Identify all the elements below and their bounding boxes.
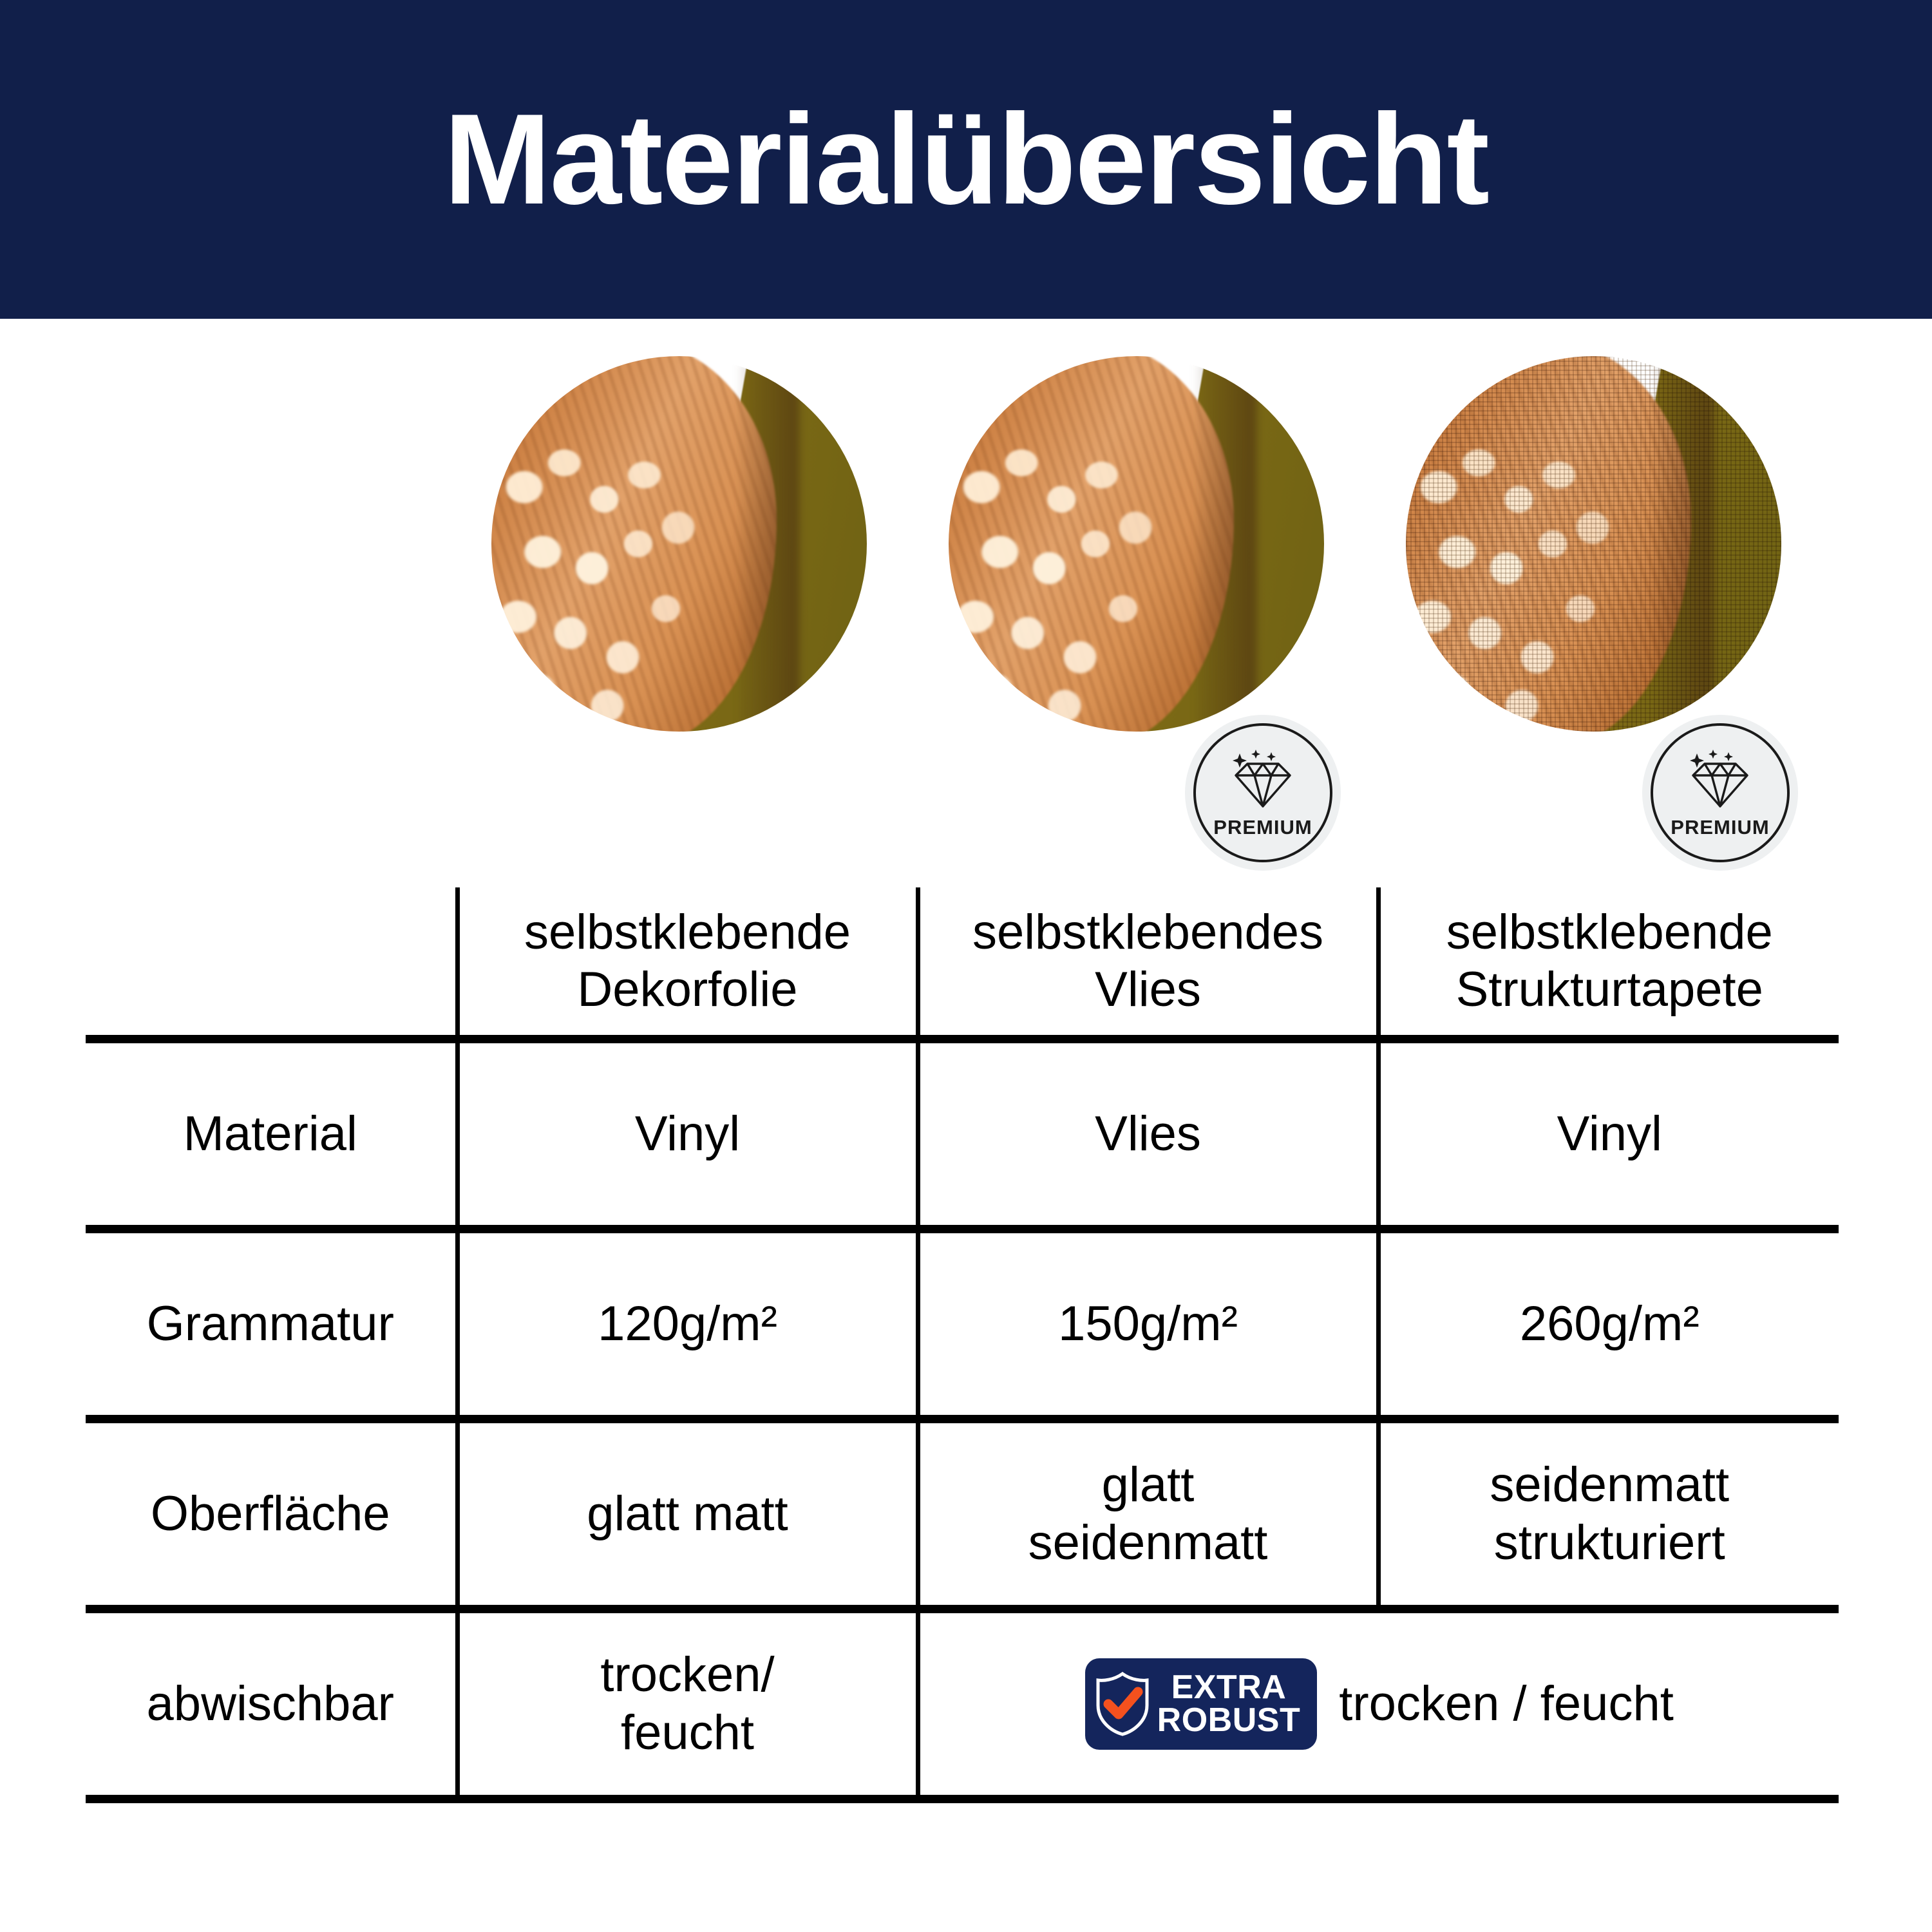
extra-robust-badge: EXTRA ROBUST xyxy=(1085,1658,1318,1750)
header-line-2: Dekorfolie xyxy=(468,961,908,1019)
material-swatch-strukturtapete[interactable] xyxy=(1406,356,1781,732)
cell-grammatur-vlies: 150g/m² xyxy=(918,1229,1378,1419)
feather-edge-shadow xyxy=(739,364,799,724)
row-label-material: Material xyxy=(86,1039,457,1229)
header-line-1: selbstklebendes xyxy=(928,904,1368,961)
material-spec-table: selbstklebende Dekorfolie selbstklebende… xyxy=(86,887,1839,1803)
cell-line-1: glatt xyxy=(928,1456,1368,1514)
cell-material-dekorfolie: Vinyl xyxy=(457,1039,918,1229)
premium-badge: PREMIUM xyxy=(1193,723,1332,862)
cell-oberflaeche-strukturtapete: seidenmatt strukturiert xyxy=(1378,1419,1839,1609)
table-row: Oberfläche glatt matt glatt seidenmatt s… xyxy=(86,1419,1839,1609)
table-header-vlies: selbstklebendes Vlies xyxy=(918,887,1378,1039)
cell-grammatur-dekorfolie: 120g/m² xyxy=(457,1229,918,1419)
material-swatch-vlies[interactable] xyxy=(949,356,1324,732)
row-label-oberflaeche: Oberfläche xyxy=(86,1419,457,1609)
header-spacer-cell xyxy=(86,887,457,1039)
cell-line-1: glatt matt xyxy=(468,1485,908,1543)
row-label-grammatur: Grammatur xyxy=(86,1229,457,1419)
owl-feather-image xyxy=(949,356,1324,732)
owl-feather-image xyxy=(1406,356,1781,732)
table-row: abwischbar trocken/ feucht xyxy=(86,1609,1839,1799)
material-swatch-dekorfolie[interactable] xyxy=(491,356,867,732)
table-header-row: selbstklebende Dekorfolie selbstklebende… xyxy=(86,887,1839,1039)
material-swatch-row: PREMIUM PREMIUM xyxy=(0,356,1932,743)
cell-abwischbar-dekorfolie: trocken/ feucht xyxy=(457,1609,918,1799)
cell-grammatur-strukturtapete: 260g/m² xyxy=(1378,1229,1839,1419)
abwischbar-merged-value: trocken / feucht xyxy=(1339,1675,1674,1733)
table-row: Grammatur 120g/m² 150g/m² 260g/m² xyxy=(86,1229,1839,1419)
cell-abwischbar-vlies-strukturtapete: EXTRA ROBUST trocken / feucht xyxy=(918,1609,1839,1799)
header-line-2: Vlies xyxy=(928,961,1368,1019)
robust-line-2: ROBUST xyxy=(1157,1704,1301,1737)
cell-line-2: strukturiert xyxy=(1388,1514,1832,1572)
premium-badge-label: PREMIUM xyxy=(1671,816,1769,839)
shield-check-icon xyxy=(1094,1672,1151,1736)
premium-badge: PREMIUM xyxy=(1651,723,1790,862)
diamond-icon xyxy=(1685,747,1755,813)
owl-feather-image xyxy=(491,356,867,732)
header-line-2: Strukturtapete xyxy=(1388,961,1832,1019)
extra-robust-text: EXTRA ROBUST xyxy=(1157,1671,1301,1737)
structure-texture-overlay xyxy=(1406,356,1781,732)
premium-badge-label: PREMIUM xyxy=(1213,816,1312,839)
cell-line-2: seidenmatt xyxy=(928,1514,1368,1572)
material-spec-table-wrapper: selbstklebende Dekorfolie selbstklebende… xyxy=(86,887,1839,1803)
cell-oberflaeche-dekorfolie: glatt matt xyxy=(457,1419,918,1609)
feather-texture xyxy=(491,356,777,732)
page-title: Materialübersicht xyxy=(444,95,1488,224)
robust-line-1: EXTRA xyxy=(1157,1671,1301,1704)
cell-oberflaeche-vlies: glatt seidenmatt xyxy=(918,1419,1378,1609)
page-header: Materialübersicht xyxy=(0,0,1932,319)
header-line-1: selbstklebende xyxy=(468,904,908,961)
table-header-dekorfolie: selbstklebende Dekorfolie xyxy=(457,887,918,1039)
cell-line-1: trocken/ xyxy=(468,1646,908,1704)
cell-material-strukturtapete: Vinyl xyxy=(1378,1039,1839,1229)
diamond-icon xyxy=(1228,747,1298,813)
cell-line-2: feucht xyxy=(468,1704,908,1762)
feather-texture xyxy=(949,356,1234,732)
cell-line-1: seidenmatt xyxy=(1388,1456,1832,1514)
cell-material-vlies: Vlies xyxy=(918,1039,1378,1229)
row-label-abwischbar: abwischbar xyxy=(86,1609,457,1799)
table-header-strukturtapete: selbstklebende Strukturtapete xyxy=(1378,887,1839,1039)
table-row: Material Vinyl Vlies Vinyl xyxy=(86,1039,1839,1229)
header-line-1: selbstklebende xyxy=(1388,904,1832,961)
feather-edge-shadow xyxy=(1197,364,1256,724)
